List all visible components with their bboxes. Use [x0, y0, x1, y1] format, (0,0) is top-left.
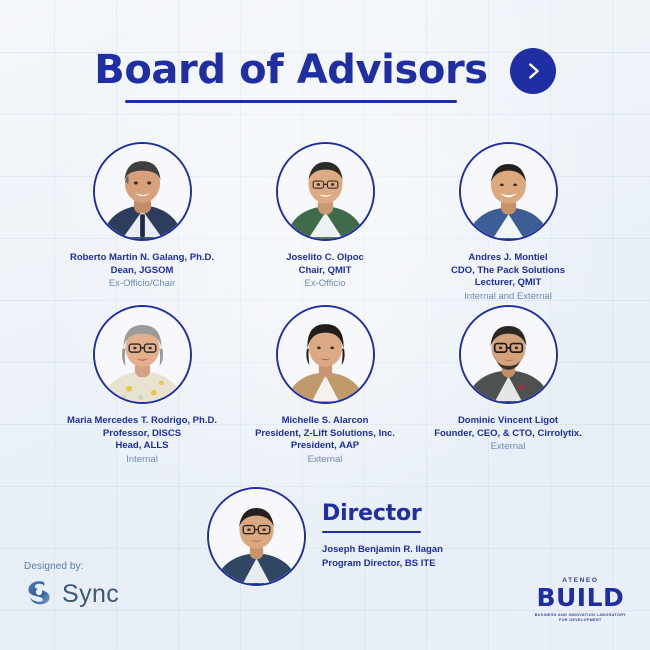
portrait-male-glasses-navy-blazer-icon [209, 489, 304, 584]
title-block: Board of Advisors [94, 49, 487, 103]
member-tag: Internal [67, 454, 217, 467]
build-subtitle-line1: BUSINESS AND INNOVATION LABORATORY [535, 613, 626, 617]
ateneo-build-logo: ATENEO BUILD BUSINESS AND INNOVATION LAB… [535, 577, 626, 622]
member-card[interactable]: Dominic Vincent Ligot Founder, CEO, & CT… [417, 305, 600, 466]
member-info: Michelle S. Alarcon President, Z-Lift So… [255, 415, 395, 466]
member-name: Maria Mercedes T. Rodrigo, Ph.D. [67, 415, 217, 428]
member-tag: Ex-Officio/Chair [70, 278, 214, 291]
member-card[interactable]: Maria Mercedes T. Rodrigo, Ph.D. Profess… [51, 305, 234, 466]
member-info: Andres J. Montiel CDO, The Pack Solution… [451, 252, 565, 303]
sync-wordmark: Sync [62, 580, 119, 609]
member-name: Roberto Martin N. Galang, Ph.D. [70, 252, 214, 265]
director-name: Joseph Benjamin R. Ilagan [322, 543, 443, 557]
member-role: President, AAP [255, 440, 395, 453]
chevron-right-icon [522, 60, 544, 82]
member-name: Michelle S. Alarcon [255, 415, 395, 428]
build-wordmark: BUILD [536, 585, 624, 610]
build-subtitle-line2: FOR DEVELOPMENT [559, 618, 602, 622]
member-tag: External [434, 441, 582, 454]
poster-header: Board of Advisors [0, 48, 650, 104]
members-row-1: Roberto Martin N. Galang, Ph.D. Dean, JG… [0, 142, 650, 303]
member-tag: Internal and External [451, 291, 565, 304]
member-info: Roberto Martin N. Galang, Ph.D. Dean, JG… [70, 252, 214, 291]
portrait-male-smiling-blue-icon [461, 144, 556, 239]
portrait-female-glasses-floral-icon [95, 307, 190, 402]
member-role: Dean, JGSOM [70, 265, 214, 278]
member-role: Professor, DISCS [67, 428, 217, 441]
member-name: Dominic Vincent Ligot [434, 415, 582, 428]
avatar [93, 305, 192, 404]
member-card[interactable]: Michelle S. Alarcon President, Z-Lift So… [234, 305, 417, 466]
avatar [276, 305, 375, 404]
director-avatar [207, 487, 306, 586]
avatar [459, 142, 558, 241]
title-underline [125, 100, 457, 103]
member-info: Dominic Vincent Ligot Founder, CEO, & CT… [434, 415, 582, 454]
member-role: President, Z-Lift Solutions, Inc. [255, 428, 395, 441]
member-info: Maria Mercedes T. Rodrigo, Ph.D. Profess… [67, 415, 217, 466]
member-card[interactable]: Andres J. Montiel CDO, The Pack Solution… [417, 142, 600, 303]
board-of-advisors-poster: Board of Advisors [0, 0, 650, 650]
member-card[interactable]: Joselito C. Olpoc Chair, QMIT Ex-Officio [234, 142, 417, 303]
director-underline [322, 531, 421, 534]
avatar [93, 142, 192, 241]
member-role: Chair, QMIT [286, 265, 364, 278]
director-heading: Director [322, 502, 422, 526]
designed-by-block: Designed by: Sync [24, 561, 119, 612]
director-text: Director Joseph Benjamin R. Ilagan Progr… [322, 502, 443, 570]
avatar [459, 305, 558, 404]
member-role: Head, ALLS [67, 440, 217, 453]
members-row-2: Maria Mercedes T. Rodrigo, Ph.D. Profess… [0, 305, 650, 466]
director-role: Program Director, BS ITE [322, 557, 443, 571]
portrait-male-glasses-beard-icon [461, 307, 556, 402]
member-role: Lecturer, QMIT [451, 277, 565, 290]
portrait-female-tan-blazer-icon [278, 307, 373, 402]
sync-logo-icon [24, 577, 54, 612]
chevron-right-button[interactable] [510, 48, 556, 94]
member-tag: External [255, 454, 395, 467]
director-info: Joseph Benjamin R. Ilagan Program Direct… [322, 543, 443, 571]
member-card[interactable]: Roberto Martin N. Galang, Ph.D. Dean, JG… [51, 142, 234, 303]
member-name: Joselito C. Olpoc [286, 252, 364, 265]
member-info: Joselito C. Olpoc Chair, QMIT Ex-Officio [286, 252, 364, 291]
portrait-male-suit-navy-icon [95, 144, 190, 239]
member-role: Founder, CEO, & CTO, Cirrolytix. [434, 428, 582, 441]
avatar [276, 142, 375, 241]
portrait-male-glasses-green-icon [278, 144, 373, 239]
member-tag: Ex-Officio [286, 278, 364, 291]
member-name: Andres J. Montiel [451, 252, 565, 265]
sync-logo[interactable]: Sync [24, 577, 119, 612]
page-title: Board of Advisors [94, 49, 487, 91]
designed-by-label: Designed by: [24, 561, 84, 572]
member-role: CDO, The Pack Solutions [451, 265, 565, 278]
